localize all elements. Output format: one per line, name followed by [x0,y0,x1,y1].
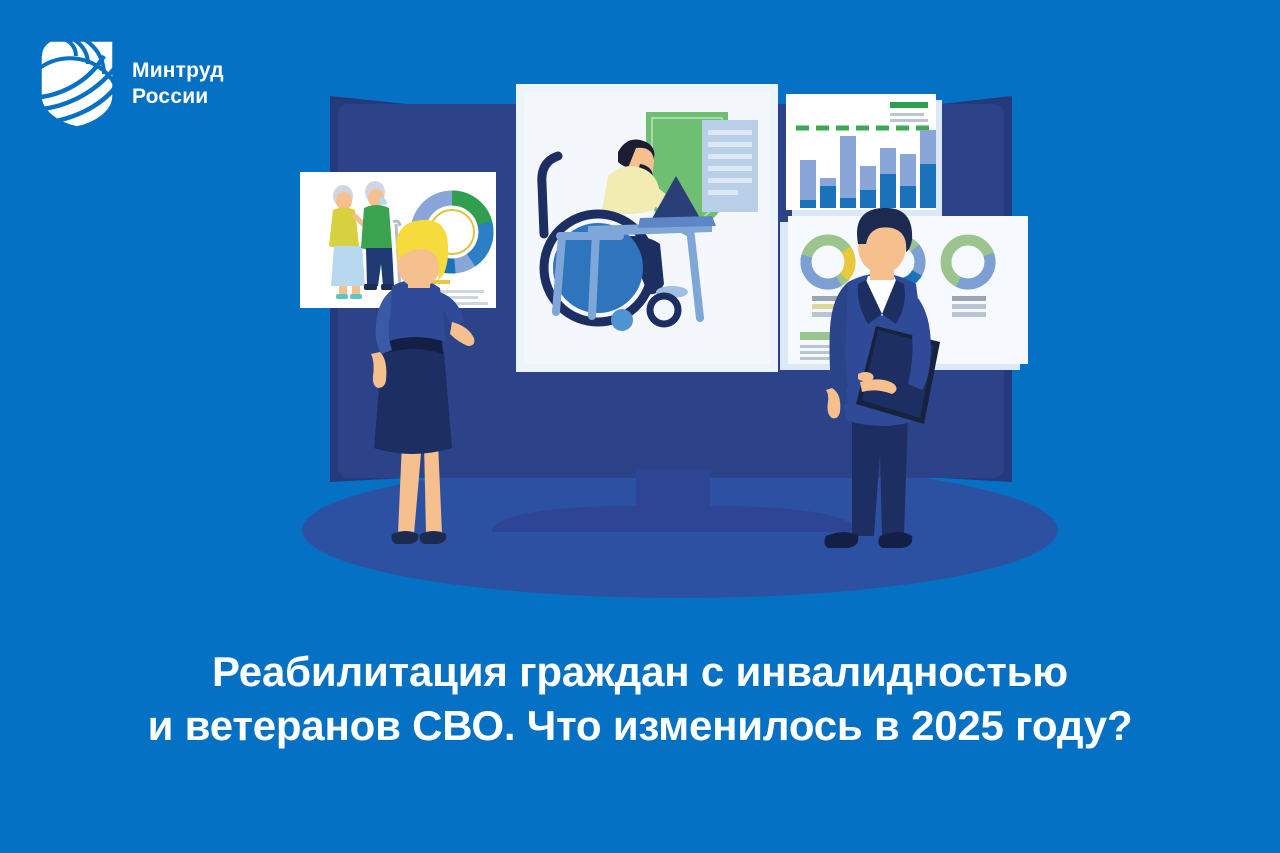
poster-canvas: Минтруд России [0,0,1280,853]
poster-title: Реабилитация граждан с инвалидностью и в… [0,645,1280,753]
panel-bar-chart [786,94,942,216]
poster-title-line1: Реабилитация граждан с инвалидностью [0,645,1280,699]
panel-wheelchair-user [516,84,778,372]
illustration [0,0,1280,660]
donut-caption-lines-right [952,296,986,317]
poster-title-line2: и ветеранов СВО. Что изменилось в 2025 г… [0,699,1280,753]
